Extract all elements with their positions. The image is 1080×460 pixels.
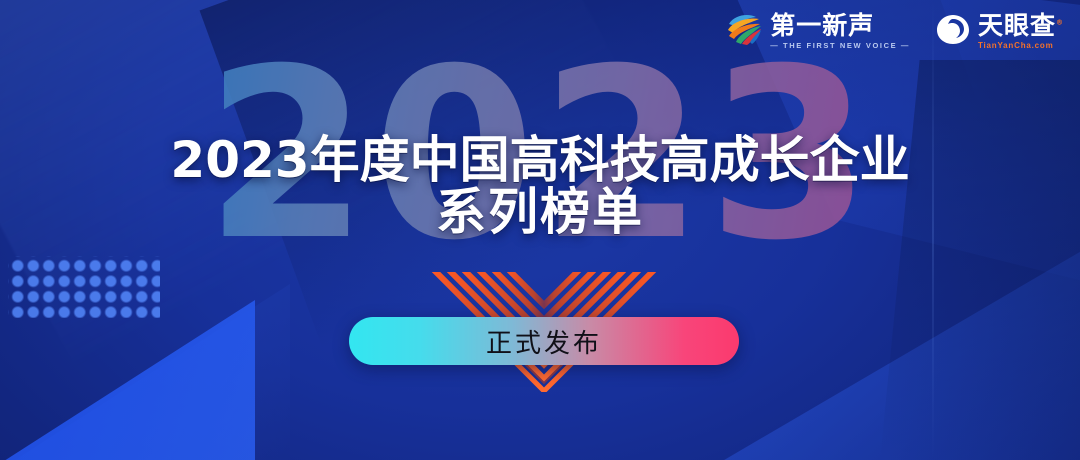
logo-tianyancha-name: 天眼查® (978, 13, 1064, 38)
publish-status-label: 正式发布 (486, 323, 602, 360)
logo-tianyancha-name-cn: 天眼查 (978, 11, 1056, 40)
logo-diyixinsheng[interactable]: 第一新声 — THE FIRST NEW VOICE — (726, 12, 910, 51)
eye-swirl-logo-mark (936, 13, 970, 50)
page-title: 2023年度中国高科技高成长企业 系列榜单 (0, 134, 1080, 238)
logo-diyixinsheng-text: 第一新声 — THE FIRST NEW VOICE — (770, 13, 910, 50)
title-line-1: 2023年度中国高科技高成长企业 (170, 131, 909, 189)
logo-tianyancha[interactable]: 天眼查® TianYanCha.com (936, 13, 1064, 50)
logo-bar: 第一新声 — THE FIRST NEW VOICE — 天眼查® TianYa… (726, 12, 1064, 51)
title-line-2: 系列榜单 (0, 186, 1080, 238)
swoosh-logo-mark (726, 12, 762, 51)
logo-tianyancha-trademark: ® (1056, 19, 1064, 27)
logo-tianyancha-tagline: TianYanCha.com (978, 42, 1064, 50)
logo-tianyancha-text: 天眼查® TianYanCha.com (978, 13, 1064, 50)
publish-status-pill[interactable]: 正式发布 (349, 317, 739, 365)
promo-banner: 2023 (0, 0, 1080, 460)
logo-diyixinsheng-name: 第一新声 (770, 13, 910, 38)
logo-diyixinsheng-tagline: — THE FIRST NEW VOICE — (770, 42, 910, 50)
